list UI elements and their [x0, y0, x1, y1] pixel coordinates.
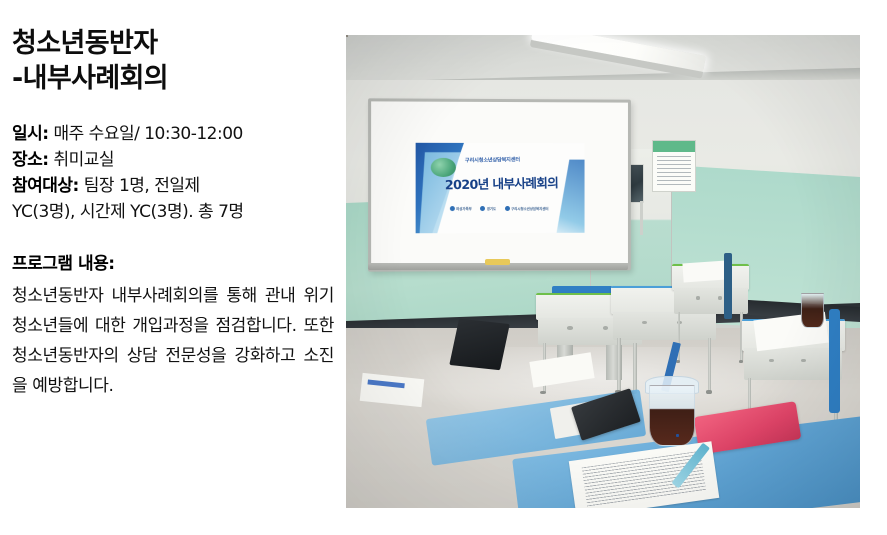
info-value-participants-line2: YC(3명), 시간제 YC(3명). 총 7명 [12, 202, 244, 222]
drink-cup [801, 293, 825, 328]
document-header-bar [368, 379, 405, 387]
poster-text-lines [657, 156, 692, 187]
laptop [449, 319, 510, 371]
sponsor-logo-3: 구리시청소년상담복지센터 [505, 206, 549, 211]
banner-swoosh-tail [555, 159, 585, 232]
info-row-participants: 참여대상: 팀장 1명, 전일제 [12, 174, 338, 200]
desk-caster [540, 391, 546, 395]
desk-knob [801, 359, 806, 363]
desk-drawer [744, 348, 843, 380]
info-label-datetime: 일시: [12, 124, 49, 144]
slide-root: 청소년동반자 -내부사례회의 일시: 매주 수요일/ 10:30-12:00 장… [0, 0, 887, 535]
info-label-place: 장소: [12, 150, 49, 170]
chair-back-rest [829, 309, 840, 413]
banner-sponsor-logos: 여성가족부 경기도 구리시청소년상담복지센터 [450, 206, 572, 211]
banner-subtitle: 구리시청소년상담복지센터 [465, 155, 577, 164]
info-label-participants: 참여대상: [12, 176, 79, 196]
desk-knob [696, 296, 700, 299]
content-heading: 프로그램 내용: [12, 249, 338, 274]
info-value-participants: 팀장 1명, 전일제 [84, 176, 200, 196]
sponsor-logo-2: 경기도 [480, 206, 496, 211]
desk-caster [676, 360, 680, 364]
desk-leg [617, 338, 620, 392]
sponsor-mark-icon [505, 206, 510, 211]
banner-main-title: 2020년 내부사례회의 [444, 171, 583, 193]
info-value-datetime: 매주 수요일/ 10:30-12:00 [54, 124, 243, 144]
cup-label [676, 434, 679, 436]
content-block: 프로그램 내용: 청소년동반자 내부사례회의를 통해 관내 위기 청소년들에 대… [12, 249, 338, 402]
sponsor-label-3: 구리시청소년상담복지센터 [511, 206, 548, 211]
desk-knob [603, 326, 608, 329]
sponsor-logo-1: 여성가족부 [450, 206, 472, 211]
sponsor-label-1: 여성가족부 [456, 206, 472, 211]
wall-cord [640, 201, 643, 234]
wall-poster [652, 140, 696, 192]
whiteboard-marker [485, 259, 511, 265]
desk-knob [567, 326, 572, 329]
info-row-datetime: 일시: 매주 수요일/ 10:30-12:00 [12, 122, 338, 148]
iced-drink-cup [649, 385, 695, 446]
desk-caster [706, 390, 712, 394]
desk-knob [718, 296, 722, 299]
info-row-participants-cont: YC(3명), 시간제 YC(3명). 총 7명 [12, 200, 338, 226]
info-value-place: 취미교실 [54, 150, 115, 170]
sponsor-mark-icon [480, 206, 485, 211]
event-banner: 구리시청소년상담복지센터 2020년 내부사례회의 여성가족부 경기도 [415, 143, 585, 233]
photo-scene: 구리시청소년상담복지센터 2020년 내부사례회의 여성가족부 경기도 [346, 35, 860, 508]
text-column: 청소년동반자 -내부사례회의 일시: 매주 수요일/ 10:30-12:00 장… [12, 26, 338, 402]
whiteboard: 구리시청소년상담복지센터 2020년 내부사례회의 여성가족부 경기도 [368, 98, 631, 271]
page-title: 청소년동반자 -내부사례회의 [12, 26, 338, 96]
desk-drawer [674, 288, 748, 314]
desk-knob [769, 359, 774, 363]
title-line-1: 청소년동반자 [12, 26, 338, 61]
document-on-desk [360, 372, 424, 407]
title-line-2: -내부사례회의 [12, 61, 338, 96]
document-on-desk [682, 261, 727, 283]
info-block: 일시: 매주 수요일/ 10:30-12:00 장소: 취미교실 참여대상: 팀… [12, 122, 338, 225]
chair-back-rest [724, 253, 732, 319]
info-row-place: 장소: 취미교실 [12, 148, 338, 174]
document-text-lines [581, 451, 706, 508]
sponsor-label-2: 경기도 [487, 206, 496, 211]
sponsor-mark-icon [450, 206, 455, 211]
meeting-photo: 구리시청소년상담복지센터 2020년 내부사례회의 여성가족부 경기도 [346, 35, 860, 508]
poster-header-band [653, 141, 695, 152]
desk-knob [642, 321, 647, 324]
content-body: 청소년동반자 내부사례회의를 통해 관내 위기 청소년들에 대한 개입과정을 점… [12, 281, 334, 402]
